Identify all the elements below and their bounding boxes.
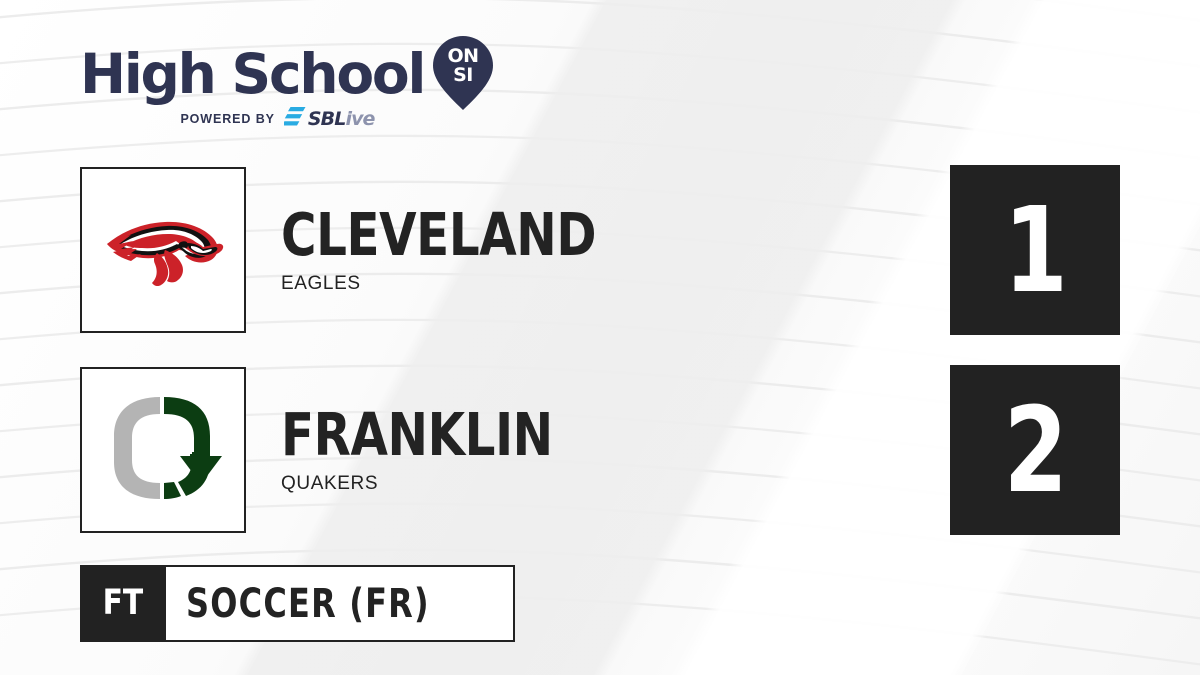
team-score: 2 — [1004, 391, 1066, 509]
logo-wordmark: High School — [80, 46, 424, 102]
sblive-word-light: ive — [345, 108, 374, 130]
sport-label: SOCCER (FR) — [186, 584, 430, 624]
powered-by-label: POWERED BY — [180, 112, 274, 126]
logo-wordmark-row: High School ON SI — [80, 40, 510, 102]
sport-label-box: SOCCER (FR) — [166, 565, 515, 642]
team-logo-box — [80, 367, 246, 533]
svg-text:SI: SI — [453, 64, 473, 86]
team-logo-box — [80, 167, 246, 333]
sblive-s-icon — [284, 107, 306, 131]
team-score-box: 2 — [950, 365, 1120, 535]
quaker-q-logo-icon — [104, 394, 222, 506]
sblive-wordmark: SBLive — [308, 110, 375, 129]
team-score: 1 — [1004, 191, 1066, 309]
team-name: FRANKLIN — [281, 405, 969, 465]
game-status-bar: FT SOCCER (FR) — [80, 565, 515, 642]
status-badge: FT — [80, 565, 166, 642]
team-score-box: 1 — [950, 165, 1120, 335]
eagle-head-logo-icon — [99, 200, 227, 300]
scoreboard-graphic: High School ON SI POWERED BY — [0, 0, 1200, 675]
team-name: CLEVELAND — [281, 205, 969, 265]
sblive-logo: SBLive — [284, 107, 375, 131]
status-badge-label: FT — [103, 586, 144, 621]
powered-by-row: POWERED BY SBLive — [80, 109, 475, 129]
sblive-word-dark: SBL — [308, 108, 346, 130]
site-logo: High School ON SI POWERED BY — [80, 40, 510, 132]
on-si-pin-icon: ON SI — [432, 35, 494, 116]
